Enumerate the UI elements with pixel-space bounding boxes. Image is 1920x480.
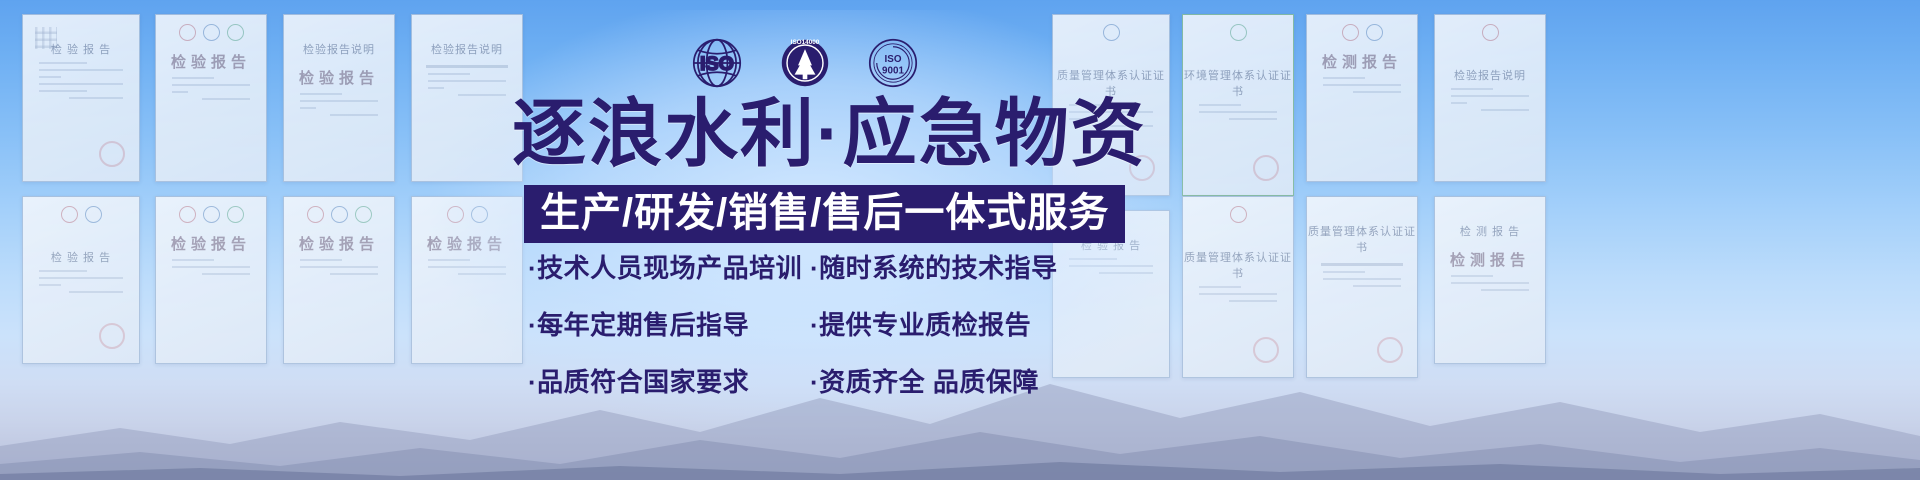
feature-row: ·每年定期售后指导 ·提供专业质检报告: [528, 305, 1068, 342]
feature-item: ·随时系统的技术指导: [810, 248, 1058, 285]
svg-text:ISO14000: ISO14000: [791, 39, 820, 46]
banner-content: ISO ISO14000 ISO 9001 逐浪水利·应急物资: [0, 0, 1920, 480]
subtitle-banner: 生产/研发/销售/售后一体式服务: [524, 185, 1125, 243]
svg-text:ISO: ISO: [885, 54, 902, 65]
iso-globe-badge-icon: ISO: [688, 34, 746, 92]
feature-row: ·品质符合国家要求 ·资质齐全 品质保障: [528, 362, 1068, 399]
feature-item: ·每年定期售后指导: [528, 305, 810, 342]
iso-9001-badge-icon: ISO 9001: [864, 34, 922, 92]
feature-item: ·提供专业质检报告: [810, 305, 1031, 342]
feature-item: ·技术人员现场产品培训: [528, 248, 810, 285]
feature-list: ·技术人员现场产品培训 ·随时系统的技术指导 ·每年定期售后指导 ·提供专业质检…: [528, 248, 1068, 419]
svg-text:9001: 9001: [882, 65, 904, 76]
promo-banner: 检 验 报 告 检验报告 检验报告说明 检验报告: [0, 0, 1920, 480]
certification-badges: ISO ISO14000 ISO 9001: [688, 34, 922, 92]
page-title: 逐浪水利·应急物资: [512, 97, 1147, 171]
svg-text:ISO: ISO: [700, 53, 734, 75]
feature-item: ·品质符合国家要求: [528, 362, 810, 399]
iso-14000-badge-icon: ISO14000: [776, 34, 834, 92]
feature-row: ·技术人员现场产品培训 ·随时系统的技术指导: [528, 248, 1068, 285]
feature-item: ·资质齐全 品质保障: [810, 362, 1039, 399]
subtitle-text: 生产/研发/销售/售后一体式服务: [540, 192, 1109, 234]
